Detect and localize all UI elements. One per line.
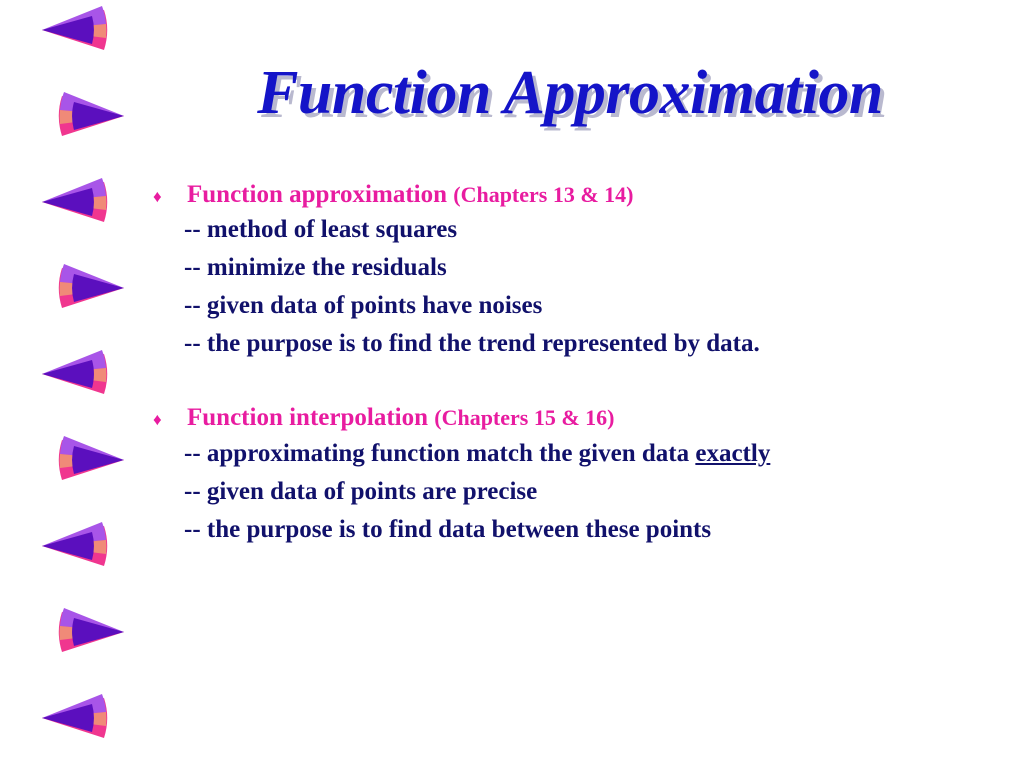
content-block-interpolation: ♦ Function interpolation (Chapters 15 & … [150,401,1010,548]
sub-line-underlined-word: exactly [695,440,770,467]
sub-line: -- approximating function match the give… [150,435,1010,473]
diamond-bullet-icon: ♦ [150,188,187,205]
slide: Function Approximation ♦ Function approx… [0,0,1024,768]
slide-title: Function Approximation [150,62,990,124]
sub-line: -- the purpose is to find the trend repr… [150,325,1010,363]
sub-line: -- given data of points have noises [150,287,1010,325]
bullet-heading-text: Function interpolation (Chapters 15 & 16… [187,401,615,434]
heading-main-text: Function interpolation [187,404,434,431]
heading-main-text: Function approximation [187,181,453,208]
decorative-ribbon-border [28,0,138,768]
diamond-bullet-icon: ♦ [150,411,187,428]
slide-body: ♦ Function approximation (Chapters 13 & … [150,178,1010,549]
sub-line-text: -- approximating function match the give… [184,440,695,467]
sub-line: -- the purpose is to find data between t… [150,511,1010,549]
content-block-approximation: ♦ Function approximation (Chapters 13 & … [150,178,1010,363]
sub-line: -- method of least squares [150,211,1010,249]
bullet-heading-interpolation: ♦ Function interpolation (Chapters 15 & … [150,401,1010,434]
sub-line: -- minimize the residuals [150,249,1010,287]
heading-paren-text: (Chapters 13 & 14) [453,182,633,207]
heading-paren-text: (Chapters 15 & 16) [434,405,614,430]
bullet-heading-approximation: ♦ Function approximation (Chapters 13 & … [150,178,1010,211]
sub-line: -- given data of points are precise [150,473,1010,511]
bullet-heading-text: Function approximation (Chapters 13 & 14… [187,178,634,211]
